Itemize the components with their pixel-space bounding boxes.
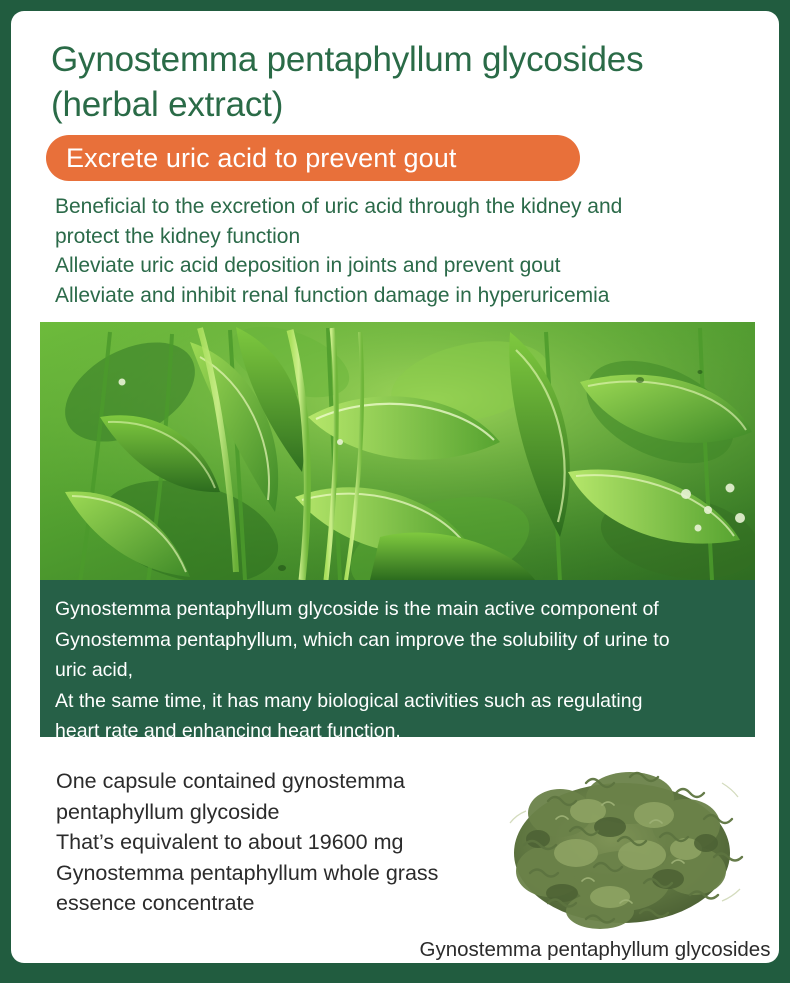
benefit-line: Alleviate and inhibit renal function dam…	[55, 281, 755, 311]
dosage-line: Gynostemma pentaphyllum whole grass	[56, 858, 496, 889]
product-info-card: Gynostemma pentaphyllum glycosides (herb…	[11, 11, 779, 963]
benefits-list: Beneficial to the excretion of uric acid…	[55, 192, 755, 310]
benefit-line: Alleviate uric acid deposition in joints…	[55, 251, 755, 281]
status-badge: Excrete uric acid to prevent gout	[46, 135, 580, 181]
description-box: Gynostemma pentaphyllum glycoside is the…	[40, 580, 755, 737]
description-line: Gynostemma pentaphyllum glycoside is the…	[55, 594, 755, 625]
dosage-line: That’s equivalent to about 19600 mg	[56, 827, 496, 858]
dosage-text: One capsule contained gynostemma pentaph…	[56, 766, 496, 919]
promo-page: Gynostemma pentaphyllum glycosides (herb…	[0, 0, 790, 983]
plant-photo	[40, 322, 755, 582]
dosage-line: pentaphyllum glycoside	[56, 797, 496, 828]
page-title: Gynostemma pentaphyllum glycosides (herb…	[51, 37, 771, 127]
benefit-line: Beneficial to the excretion of uric acid…	[55, 192, 755, 222]
benefit-line: protect the kidney function	[55, 222, 755, 252]
dosage-line: essence concentrate	[56, 888, 496, 919]
description-line: Gynostemma pentaphyllum, which can impro…	[55, 625, 755, 656]
product-caption: Gynostemma pentaphyllum glycosides	[410, 936, 779, 963]
herb-powder-image	[490, 753, 762, 933]
description-line: uric acid,	[55, 655, 755, 686]
description-line: At the same time, it has many biological…	[55, 686, 755, 717]
description-line: heart rate and enhancing heart function.	[55, 716, 755, 747]
dosage-line: One capsule contained gynostemma	[56, 766, 496, 797]
